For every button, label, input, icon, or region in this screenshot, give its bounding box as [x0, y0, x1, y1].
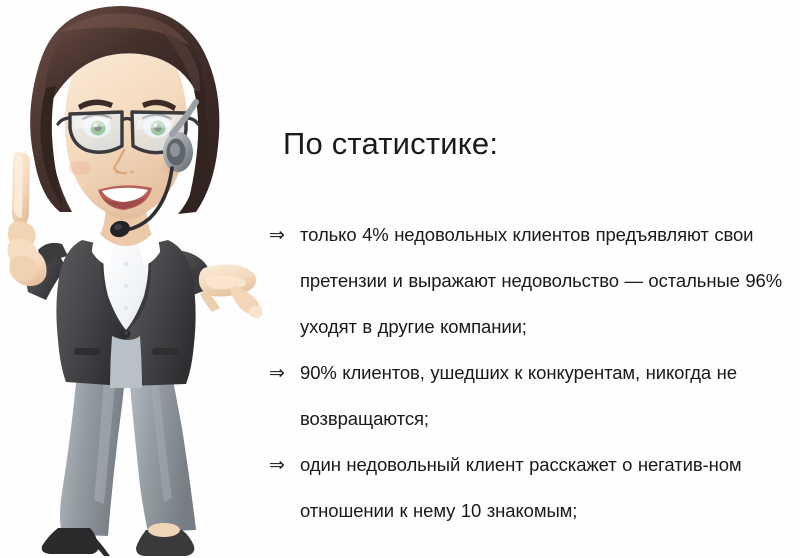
text-column: По статистике: ⇒ только 4% недовольных к… [262, 0, 800, 558]
list-item: ⇒ только 4% недовольных клиентов предъяв… [262, 212, 800, 350]
call-center-operator-illustration [0, 0, 262, 558]
double-arrow-bullet-icon: ⇒ [269, 212, 285, 258]
list-item: ⇒ один недовольный клиент расскажет о не… [262, 442, 800, 534]
list-item: ⇒ 90% клиентов, ушедших к конкурентам, н… [262, 350, 800, 442]
statistics-bullet-list: ⇒ только 4% недовольных клиентов предъяв… [262, 212, 800, 534]
double-arrow-bullet-icon: ⇒ [269, 442, 285, 488]
double-arrow-bullet-icon: ⇒ [269, 350, 285, 396]
bullet-text-word-of-mouth: один недовольный клиент расскажет о нега… [300, 442, 792, 534]
bullet-text-complaints: только 4% недовольных клиентов предъявля… [300, 212, 792, 350]
slide-canvas: По статистике: ⇒ только 4% недовольных к… [0, 0, 800, 558]
bullet-text-never-return: 90% клиентов, ушедших к конкурентам, ник… [300, 350, 792, 442]
page-title: По статистике: [283, 126, 498, 162]
trousers-group [60, 362, 196, 536]
